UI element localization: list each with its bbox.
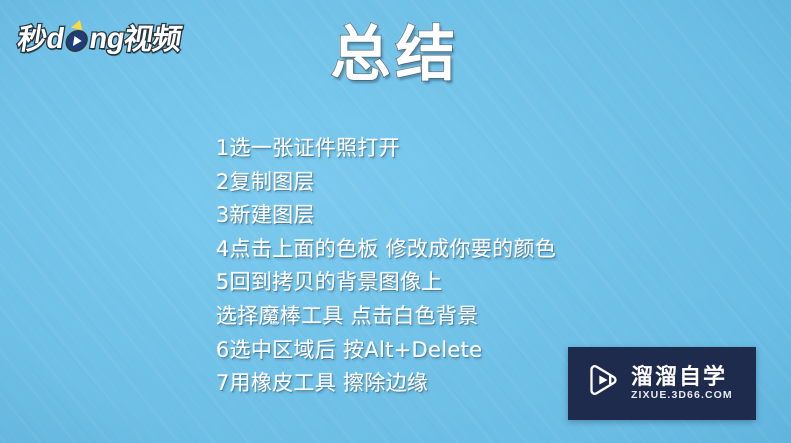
list-item: 选择魔棒工具 点击白色背景 <box>216 300 636 334</box>
list-item: 1选一张证件照打开 <box>216 132 636 166</box>
list-item: 2复制图层 <box>216 166 636 200</box>
watermark-url: ZIXUE.3D66.COM <box>631 390 733 401</box>
page-title: 总结 <box>0 24 791 87</box>
play-button-icon <box>582 361 622 406</box>
watermark-title: 溜溜自学 <box>631 367 733 389</box>
watermark-text-block: 溜溜自学 ZIXUE.3D66.COM <box>631 367 733 401</box>
slide-canvas: 秒 d ng 视频 总结 1选一张证件照打开 2复制图层 3新建图层 4点击上面… <box>0 0 791 443</box>
list-item: 3新建图层 <box>216 199 636 233</box>
watermark-panel: 溜溜自学 ZIXUE.3D66.COM <box>568 347 756 420</box>
list-item: 5回到拷贝的背景图像上 <box>216 266 636 300</box>
list-item: 4点击上面的色板 修改成你要的颜色 <box>216 233 636 267</box>
